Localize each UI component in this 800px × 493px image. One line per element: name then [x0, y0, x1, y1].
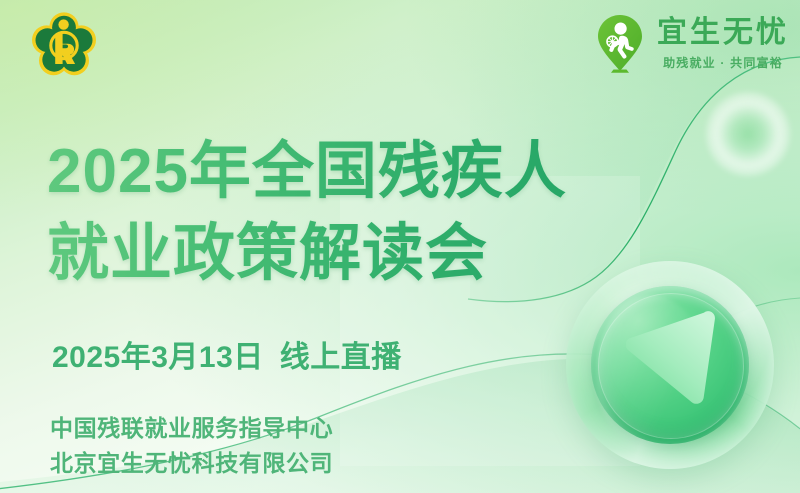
- cdpf-flower-logo-icon: [30, 11, 98, 79]
- event-date: 2025年3月13日: [52, 341, 264, 374]
- brand-tagline: 助残就业 · 共同富裕: [663, 54, 783, 71]
- location-pin-person-icon: [592, 12, 648, 74]
- brand-lockup: 宜生无忧 助残就业 · 共同富裕: [592, 12, 789, 74]
- livestream-poster: 宜生无忧 助残就业 · 共同富裕 播放 2025年全国残疾人 就业政策解读会: [0, 0, 800, 493]
- event-datetime-line: 2025年3月13日线上直播: [52, 332, 402, 376]
- title-line-2: 就业政策解读会: [47, 213, 567, 295]
- event-mode: 线上直播: [280, 341, 402, 374]
- glow-bubble-icon: [706, 92, 790, 176]
- organizer-line-1: 中国残联就业服务指导中心: [50, 411, 333, 446]
- organizer-line-2: 北京宜生无忧科技有限公司: [50, 446, 333, 481]
- play-triangle-icon: [626, 311, 722, 415]
- play-button-icon[interactable]: 播放: [560, 253, 782, 475]
- organizer-list: 中国残联就业服务指导中心 北京宜生无忧科技有限公司: [50, 411, 333, 481]
- brand-name: 宜生无忧: [657, 17, 789, 49]
- page-title: 2025年全国残疾人 就业政策解读会: [47, 131, 567, 296]
- title-line-1: 2025年全国残疾人: [47, 131, 567, 213]
